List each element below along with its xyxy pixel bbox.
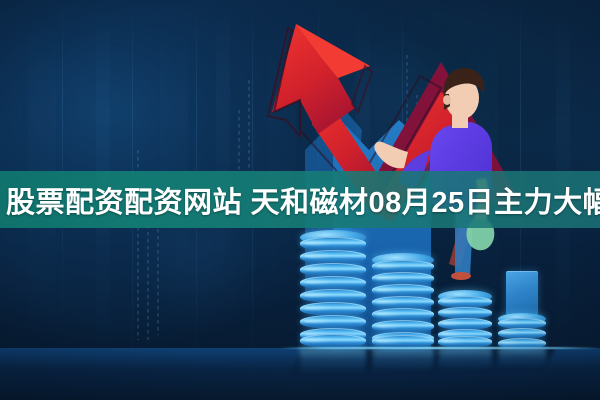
banner-image: 股票配资配资网站 天和磁材08月25日主力大幅流入 xyxy=(0,0,600,400)
page-title: 股票配资配资网站 天和磁材08月25日主力大幅流入 xyxy=(0,171,600,228)
